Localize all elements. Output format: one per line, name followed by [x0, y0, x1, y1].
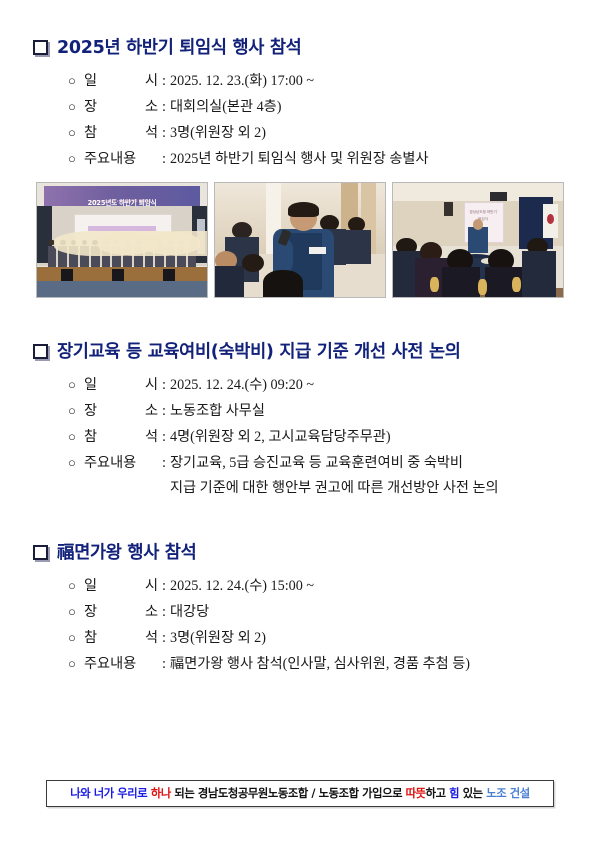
section-title-hanja: 福 — [57, 543, 74, 563]
detail-label: 참 석 — [84, 626, 158, 651]
footer-part-3: 되는 경남도청공무원노동조합 / 노동조합 가입으로 — [171, 787, 406, 800]
detail-row-datetime: ○ 일 시 : 2025. 12. 24.(수) 15:00 ~ — [68, 573, 570, 599]
circle-bullet-icon: ○ — [68, 94, 84, 119]
detail-list: ○ 일 시 : 2025. 12. 24.(수) 15:00 ~ ○ 장 소 :… — [68, 573, 570, 677]
detail-value: 노동조합 사무실 — [170, 399, 265, 424]
detail-label-a: 참 — [84, 626, 97, 651]
detail-label-b: 석 — [145, 626, 158, 651]
detail-row-summary: ○ 주요내용 : 2025년 하반기 퇴임식 행사 및 위원장 송별사 — [68, 146, 570, 172]
detail-label-a: 일 — [84, 69, 97, 94]
circle-bullet-icon: ○ — [68, 398, 84, 423]
checkbox-empty-icon — [33, 40, 48, 55]
photo-banner-subtext: 2025. 12. 23.(화) 17:00 경상남도 대회의실 — [37, 198, 207, 203]
detail-label-b: 소 — [145, 600, 158, 625]
circle-bullet-icon: ○ — [68, 424, 84, 449]
footer-part-2: 하나 — [151, 787, 171, 800]
detail-colon: : — [158, 451, 170, 476]
footer-part-5: 하고 — [426, 787, 450, 800]
detail-list: ○ 일 시 : 2025. 12. 24.(수) 09:20 ~ ○ 장 소 :… — [68, 372, 570, 501]
detail-value: 福면가왕 행사 참석 — [170, 652, 283, 677]
detail-row-summary: ○ 주요내용 : 福면가왕 행사 참석 (인사말, 심사위원, 경품 추첨 등) — [68, 651, 570, 677]
detail-colon: : — [158, 95, 170, 120]
circle-bullet-icon: ○ — [68, 120, 84, 145]
detail-list: ○ 일 시 : 2025. 12. 23.(화) 17:00 ~ ○ 장 소 :… — [68, 68, 570, 172]
detail-label-b: 소 — [145, 95, 158, 120]
document-page: 2025년 하반기 퇴임식 행사 참석 ○ 일 시 : 2025. 12. 23… — [0, 0, 600, 849]
detail-colon: : — [158, 69, 170, 94]
circle-bullet-icon: ○ — [68, 599, 84, 624]
detail-label: 일 시 — [84, 574, 158, 599]
photo-retirement-ceremony-stage: 2025년도 하반기 퇴임식 2025. 12. 23.(화) 17:00 경상… — [36, 182, 208, 298]
detail-value-continued: 지급 기준에 대한 행안부 권고에 따른 개선방안 사전 논의 — [170, 476, 570, 501]
detail-colon: : — [158, 147, 170, 172]
detail-value: 장기교육, 5급 승진교육 등 교육훈련여비 중 숙박비 — [170, 451, 463, 476]
detail-label: 참 석 — [84, 425, 158, 450]
detail-label-b: 시 — [145, 373, 158, 398]
detail-label-a: 장 — [84, 399, 97, 424]
detail-label: 일 시 — [84, 373, 158, 398]
section-retirement-ceremony: 2025년 하반기 퇴임식 행사 참석 ○ 일 시 : 2025. 12. 23… — [30, 34, 570, 298]
detail-colon: : — [158, 425, 170, 450]
section-title: 2025년 하반기 퇴임식 행사 참석 — [57, 34, 301, 59]
detail-label-a: 장 — [84, 600, 97, 625]
detail-label-a: 참 — [84, 121, 97, 146]
circle-bullet-icon: ○ — [68, 625, 84, 650]
detail-label-b: 석 — [145, 425, 158, 450]
circle-bullet-icon: ○ — [68, 450, 84, 475]
detail-label-b: 시 — [145, 574, 158, 599]
detail-label: 장 소 — [84, 399, 158, 424]
section-education-allowance-discussion: 장기교육 등 교육여비(숙박비) 지급 기준 개선 사전 논의 ○ 일 시 : … — [30, 338, 570, 501]
detail-label-a: 일 — [84, 574, 97, 599]
detail-colon: : — [158, 373, 170, 398]
detail-row-summary: ○ 주요내용 : 장기교육, 5급 승진교육 등 교육훈련여비 중 숙박비 — [68, 450, 570, 476]
detail-row-datetime: ○ 일 시 : 2025. 12. 23.(화) 17:00 ~ — [68, 68, 570, 94]
detail-value: 대회의실(본관 4층) — [170, 95, 281, 120]
detail-row-datetime: ○ 일 시 : 2025. 12. 24.(수) 09:20 ~ — [68, 372, 570, 398]
section-title: 福면가왕 행사 참석 — [57, 539, 196, 564]
circle-bullet-icon: ○ — [68, 146, 84, 171]
footer-slogan-text: 나와 너가 우리로 하나 되는 경남도청공무원노동조합 / 노동조합 가입으로 … — [47, 785, 553, 801]
detail-value: 4명(위원장 외 2, 고시교육담당주무관) — [170, 425, 391, 450]
detail-label: 주요내용 — [84, 451, 158, 476]
detail-label: 장 소 — [84, 600, 158, 625]
detail-row-attendance: ○ 참 석 : 3명(위원장 외 2) — [68, 625, 570, 651]
detail-label-a: 일 — [84, 373, 97, 398]
detail-label-a: 장 — [84, 95, 97, 120]
section-heading: 장기교육 등 교육여비(숙박비) 지급 기준 개선 사전 논의 — [33, 338, 570, 363]
circle-bullet-icon: ○ — [68, 372, 84, 397]
photo-strip: 2025년도 하반기 퇴임식 2025. 12. 23.(화) 17:00 경상… — [36, 182, 564, 298]
detail-row-location: ○ 장 소 : 대강당 — [68, 599, 570, 625]
detail-label-b: 소 — [145, 399, 158, 424]
detail-colon: : — [158, 574, 170, 599]
footer-part-6: 힘 — [449, 787, 459, 800]
detail-label: 일 시 — [84, 69, 158, 94]
detail-value: 대강당 — [170, 600, 209, 625]
detail-colon: : — [158, 399, 170, 424]
detail-value: 2025. 12. 24.(수) 09:20 ~ — [170, 373, 314, 398]
footer-part-7: 있는 — [459, 787, 486, 800]
detail-label-a: 참 — [84, 425, 97, 450]
detail-row-location: ○ 장 소 : 노동조합 사무실 — [68, 398, 570, 424]
detail-label-b: 석 — [145, 121, 158, 146]
detail-value: 2025년 하반기 퇴임식 행사 및 위원장 송별사 — [170, 147, 429, 172]
photo-banquet-hall-tables: 경상남도청 하반기 퇴임식 — [392, 182, 564, 298]
detail-row-attendance: ○ 참 석 : 3명(위원장 외 2) — [68, 120, 570, 146]
detail-label: 주요내용 — [84, 147, 158, 172]
detail-label-b: 시 — [145, 69, 158, 94]
circle-bullet-icon: ○ — [68, 651, 84, 676]
detail-label: 주요내용 — [84, 652, 158, 677]
detail-value-note: (인사말, 심사위원, 경품 추첨 등) — [283, 652, 470, 677]
photo-speaker-with-microphone — [214, 182, 386, 298]
footer-slogan-banner: 나와 너가 우리로 하나 되는 경남도청공무원노동조합 / 노동조합 가입으로 … — [46, 780, 554, 807]
photo-board-text: 경상남도청 하반기 퇴임식 — [468, 209, 499, 222]
detail-value: 3명(위원장 외 2) — [170, 626, 266, 651]
detail-colon: : — [158, 600, 170, 625]
detail-value: 3명(위원장 외 2) — [170, 121, 266, 146]
detail-row-attendance: ○ 참 석 : 4명(위원장 외 2, 고시교육담당주무관) — [68, 424, 570, 450]
footer-part-8: 노조 건설 — [486, 787, 530, 800]
checkbox-empty-icon — [33, 344, 48, 359]
section-title: 장기교육 등 교육여비(숙박비) 지급 기준 개선 사전 논의 — [57, 338, 461, 363]
footer-part-4: 따뜻 — [406, 787, 426, 800]
section-heading: 福면가왕 행사 참석 — [33, 539, 570, 564]
checkbox-empty-icon — [33, 545, 48, 560]
section-bok-myeon-ga-wang-event: 福면가왕 행사 참석 ○ 일 시 : 2025. 12. 24.(수) 15:0… — [30, 539, 570, 677]
detail-colon: : — [158, 652, 170, 677]
detail-row-location: ○ 장 소 : 대회의실(본관 4층) — [68, 94, 570, 120]
detail-colon: : — [158, 121, 170, 146]
detail-label: 참 석 — [84, 121, 158, 146]
section-title-rest: 면가왕 행사 참석 — [74, 543, 196, 563]
detail-value: 2025. 12. 23.(화) 17:00 ~ — [170, 69, 314, 94]
detail-label: 장 소 — [84, 95, 158, 120]
circle-bullet-icon: ○ — [68, 573, 84, 598]
circle-bullet-icon: ○ — [68, 68, 84, 93]
detail-colon: : — [158, 626, 170, 651]
detail-value: 2025. 12. 24.(수) 15:00 ~ — [170, 574, 314, 599]
section-heading: 2025년 하반기 퇴임식 행사 참석 — [33, 34, 570, 59]
footer-part-1: 나와 너가 우리로 — [70, 787, 151, 800]
